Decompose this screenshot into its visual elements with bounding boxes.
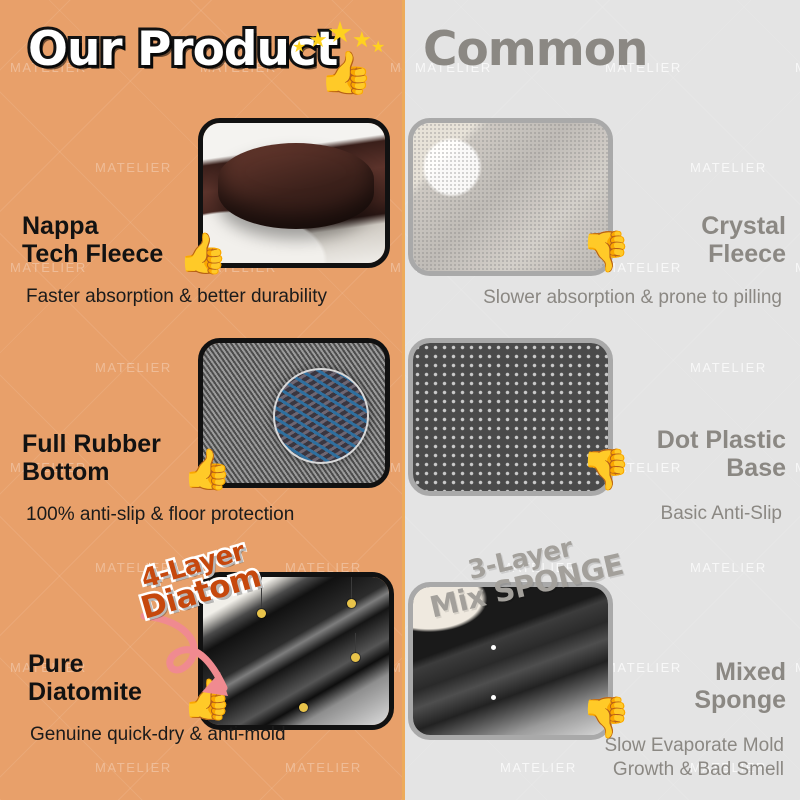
feature-subtitle-mixed-sponge: Slow Evaporate Mold Growth & Bad Smell (604, 734, 784, 782)
common-panel: MATELIERMATELIERMATELIERMATELIERMATELIER… (405, 0, 800, 800)
thumbs-down-icon: 👎 (581, 450, 631, 490)
thumbs-up-icon: 👍 (178, 234, 228, 274)
feature-subtitle-crystal-fleece: Slower absorption & prone to pilling (483, 286, 782, 310)
thumbs-down-icon: 👎 (581, 232, 631, 272)
star-icon: ★ (327, 19, 353, 48)
star-icon: ★ (292, 40, 306, 56)
thumbs-down-icon: 👎 (581, 698, 631, 738)
rating-badge: ★ ★ ★ ★ ★ 👍 (292, 16, 388, 92)
row-3-right: 3-Layer Mix SPONGE Mixed Sponge 👎 Slow E… (405, 558, 800, 800)
thumbs-up-icon: 👍 (319, 52, 374, 94)
feature-subtitle-rubber: 100% anti-slip & floor protection (26, 504, 294, 526)
row-1-left: Nappa Tech Fleece 👍 Faster absorption & … (0, 118, 402, 328)
row-2-left: Full Rubber Bottom 👍 100% anti-slip & fl… (0, 338, 402, 548)
infographic-stage: MATELIERMATELIERMATELIERMATELIERMATELIER… (0, 0, 800, 800)
star-icon: ★ (352, 29, 372, 51)
feature-subtitle-nappa: Faster absorption & better durability (26, 286, 327, 308)
feature-subtitle-diatomite: Genuine quick-dry & anti-mold (30, 724, 286, 746)
page-title-our-product: Our Product (28, 22, 337, 77)
feature-subtitle-dot-plastic: Basic Anti-Slip (661, 502, 782, 526)
our-product-panel: MATELIERMATELIERMATELIERMATELIERMATELIER… (0, 0, 402, 800)
watermark-text: MATELIER (390, 60, 402, 75)
row-2-right: Dot Plastic Base 👎 Basic Anti-Slip (405, 338, 800, 548)
row-1-right: Crystal Fleece 👎 Slower absorption & pro… (405, 118, 800, 328)
thumbs-up-icon: 👍 (182, 450, 232, 490)
feature-subtitle-line2: Growth & Bad Smell (604, 758, 784, 782)
page-title-common: Common (423, 22, 647, 77)
feature-title-line1: Mixed (556, 658, 786, 686)
feature-subtitle-line1: Slow Evaporate Mold (604, 734, 784, 758)
star-icon: ★ (308, 29, 328, 51)
watermark-text: MATELIER (795, 60, 800, 75)
row-3-left: 4-Layer Diatom Pure Diatomite 👍 Genuine … (0, 558, 402, 800)
